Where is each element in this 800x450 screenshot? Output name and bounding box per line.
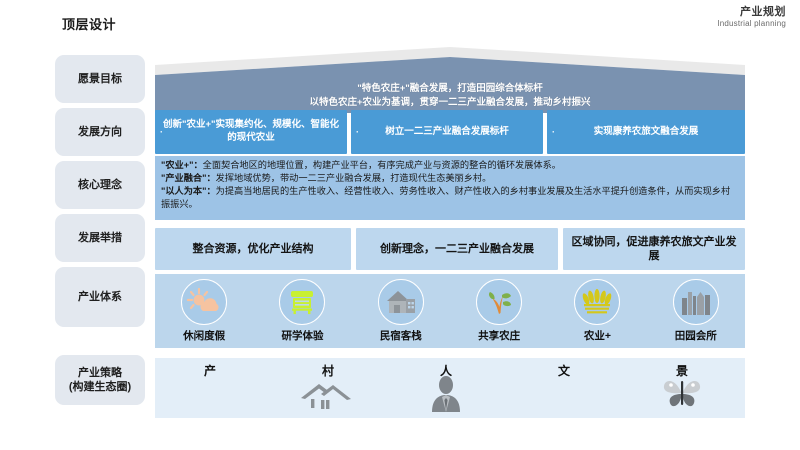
row-label-strategy[interactable]: 产业策略 (构建生态圈) xyxy=(55,355,145,405)
industry-item-study-label: 研学体验 xyxy=(281,328,323,343)
industry-item-agriplus-label: 农业+ xyxy=(584,328,611,343)
brand-title-cn: 产业规划 xyxy=(717,6,786,19)
row-label-vision[interactable]: 愿景目标 xyxy=(55,55,145,103)
core-term-3: "以人为本"： xyxy=(161,186,216,196)
measure-card-2[interactable]: 创新理念，一二三产业融合发展 xyxy=(356,228,558,270)
strategy-item-ren-char: 人 xyxy=(391,362,501,379)
strategy-item-ren[interactable]: 人 xyxy=(391,358,501,418)
strategy-item-jing-char: 景 xyxy=(627,362,737,379)
industry-item-homestay-label: 民宿客栈 xyxy=(380,328,422,343)
industry-item-sharedfarm[interactable]: 共享农庄 xyxy=(456,279,542,343)
row-label-industry[interactable]: 产业体系 xyxy=(55,267,145,327)
strategy-item-wen-char: 文 xyxy=(509,362,619,379)
direction-card-1-label: 创新"农业+"实现集约化、规模化、智能化的现代农业 xyxy=(161,119,341,145)
vision-roof-text: "特色农庄+"融合发展，打造田园综合体标杆 以特色农庄+农业为基调，贯穿一二三产… xyxy=(155,82,745,110)
core-text-1: 全面契合地区的地理位置，构建产业平台，有序完成产业与资源的整合的循环发展体系。 xyxy=(203,160,561,170)
brand-title-en: Industrial planning xyxy=(717,19,786,28)
direction-card-1[interactable]: · 创新"农业+"实现集约化、规模化、智能化的现代农业 xyxy=(155,110,347,154)
industry-item-homestay[interactable]: 民宿客栈 xyxy=(358,279,444,343)
strategy-item-chan-char: 产 xyxy=(155,362,265,379)
core-concept-item-3: "以人为本"：为提高当地居民的生产性收入、经营性收入、劳务性收入、财产性收入的乡… xyxy=(161,185,739,211)
butterfly-icon xyxy=(627,376,737,418)
vision-roof: "特色农庄+"融合发展，打造田园综合体标杆 以特色农庄+农业为基调，贯穿一二三产… xyxy=(155,47,745,113)
measures-row: 整合资源，优化产业结构 创新理念，一二三产业融合发展 区域协同，促进康养农旅文产… xyxy=(155,228,745,270)
bullet-icon: · xyxy=(160,126,163,138)
direction-row: · 创新"农业+"实现集约化、规模化、智能化的现代农业 · 树立一二三产业融合发… xyxy=(155,110,745,154)
desk-icon xyxy=(279,279,325,325)
measure-card-1[interactable]: 整合资源，优化产业结构 xyxy=(155,228,351,270)
brand-block: 产业规划 Industrial planning xyxy=(717,6,786,28)
roof-house-icon xyxy=(273,376,383,418)
core-text-3: 为提高当地居民的生产性收入、经营性收入、劳务性收入、财产性收入的乡村事业发展及生… xyxy=(161,186,730,209)
industry-item-agriplus[interactable]: 农业+ xyxy=(554,279,640,343)
measure-card-3[interactable]: 区域协同，促进康养农旅文产业发展 xyxy=(563,228,745,270)
core-text-2: 发挥地域优势，带动一二三产业融合发展，打造现代生态美丽乡村。 xyxy=(216,173,492,183)
core-concept-box: "农业+"：全面契合地区的地理位置，构建产业平台，有序完成产业与资源的整合的循环… xyxy=(155,156,745,220)
page-title: 顶层设计 xyxy=(62,14,116,33)
direction-card-2-label: 树立一二三产业融合发展标杆 xyxy=(385,126,509,139)
core-term-1: "农业+"： xyxy=(161,160,203,170)
row-label-strategy-line2: (构建生态圈) xyxy=(69,380,131,394)
strategy-item-chan[interactable]: 产 xyxy=(155,358,265,418)
core-term-2: "产业融合"： xyxy=(161,173,216,183)
industry-item-clubhouse[interactable]: 田园会所 xyxy=(653,279,739,343)
buildings-icon xyxy=(673,279,719,325)
strategy-item-jing[interactable]: 景 xyxy=(627,358,737,418)
bullet-icon: · xyxy=(552,126,555,138)
sprout-icon xyxy=(476,279,522,325)
strategy-item-wen[interactable]: 文 xyxy=(509,358,619,418)
slide-root: 顶层设计 产业规划 Industrial planning 愿景目标 发展方向 … xyxy=(0,0,800,450)
sun-cloud-icon xyxy=(181,279,227,325)
row-label-measures[interactable]: 发展举措 xyxy=(55,214,145,262)
industry-item-leisure[interactable]: 休闲度假 xyxy=(161,279,247,343)
row-label-direction[interactable]: 发展方向 xyxy=(55,108,145,156)
vision-line-2: 以特色农庄+农业为基调，贯穿一二三产业融合发展，推动乡村振兴 xyxy=(155,96,745,110)
industry-item-clubhouse-label: 田园会所 xyxy=(675,328,717,343)
row-label-core[interactable]: 核心理念 xyxy=(55,161,145,209)
strategy-band: 产 村 人 xyxy=(155,358,745,418)
core-concept-item-2: "产业融合"：发挥地域优势，带动一二三产业融合发展，打造现代生态美丽乡村。 xyxy=(161,172,739,185)
industry-item-leisure-label: 休闲度假 xyxy=(183,328,225,343)
person-icon xyxy=(391,376,501,418)
row-label-strategy-line1: 产业策略 xyxy=(69,366,131,380)
strategy-item-cun-char: 村 xyxy=(273,362,383,379)
industry-system-band: 休闲度假 研学体验 xyxy=(155,274,745,348)
vision-line-1: "特色农庄+"融合发展，打造田园综合体标杆 xyxy=(155,82,745,96)
industry-item-sharedfarm-label: 共享农庄 xyxy=(478,328,520,343)
house-icon xyxy=(378,279,424,325)
direction-card-3-label: 实现康养农旅文融合发展 xyxy=(594,126,699,139)
core-concept-item-1: "农业+"：全面契合地区的地理位置，构建产业平台，有序完成产业与资源的整合的循环… xyxy=(161,159,739,172)
industry-item-study[interactable]: 研学体验 xyxy=(259,279,345,343)
wheat-icon xyxy=(574,279,620,325)
direction-card-2[interactable]: · 树立一二三产业融合发展标杆 xyxy=(351,110,543,154)
bullet-icon: · xyxy=(356,126,359,138)
direction-card-3[interactable]: · 实现康养农旅文融合发展 xyxy=(547,110,745,154)
strategy-item-cun[interactable]: 村 xyxy=(273,358,383,418)
